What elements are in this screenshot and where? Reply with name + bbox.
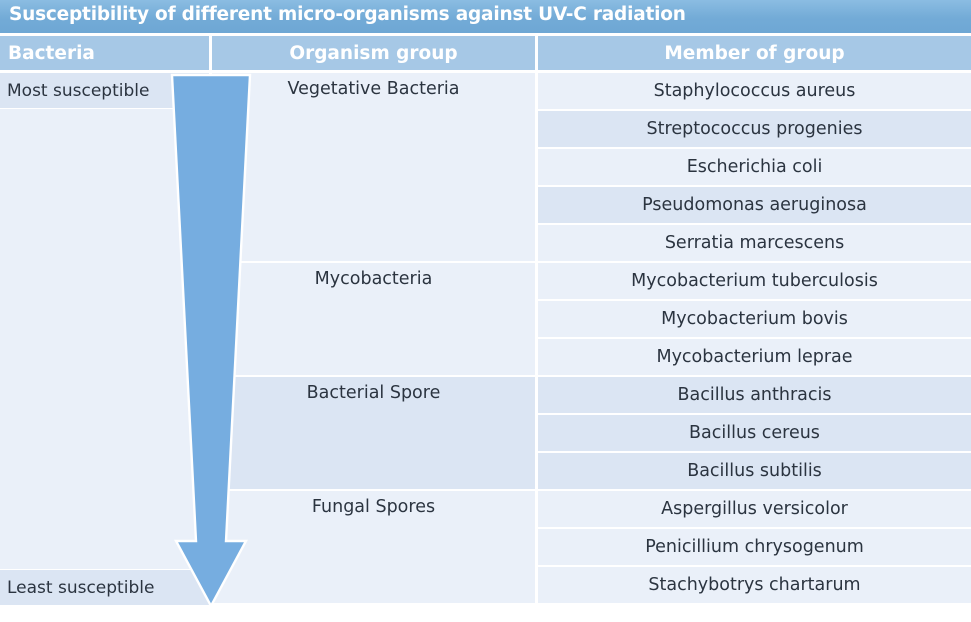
table-header-row: Bacteria Organism group Member of group [0,36,971,70]
table-row: Mycobacterium tuberculosis [538,263,971,299]
organism-group-cell: Vegetative Bacteria [212,73,535,261]
table-row: Penicillium chrysogenum [538,529,971,565]
table-row: Bacillus cereus [538,415,971,451]
figure-title-bar: Susceptibility of different micro-organi… [0,0,971,33]
table-row: Streptococcus progenies [538,111,971,147]
table-figure: Susceptibility of different micro-organi… [0,0,971,622]
column-header-bacteria: Bacteria [0,36,209,70]
table-row: Bacillus subtilis [538,453,971,489]
table-row: Mycobacterium leprae [538,339,971,375]
bacteria-column-fill [0,109,209,569]
most-susceptible-label: Most susceptible [0,73,209,108]
table-row: Aspergillus versicolor [538,491,971,527]
table-row: Staphylococcus aureus [538,73,971,109]
organism-group-cell: Mycobacteria [212,263,535,375]
table-row: Bacillus anthracis [538,377,971,413]
column-header-organism-group: Organism group [212,36,535,70]
organism-group-cell: Bacterial Spore [212,377,535,489]
table-body: Most susceptible Least susceptible Veget… [0,73,971,606]
page-title: Susceptibility of different micro-organi… [9,4,686,25]
table-row: Mycobacterium bovis [538,301,971,337]
table-row: Pseudomonas aeruginosa [538,187,971,223]
column-organism-group: Vegetative BacteriaMycobacteriaBacterial… [212,73,535,606]
column-header-member-of-group: Member of group [538,36,971,70]
table-row: Stachybotrys chartarum [538,567,971,603]
table-row: Escherichia coli [538,149,971,185]
column-bacteria: Most susceptible Least susceptible [0,73,209,606]
organism-group-cell: Fungal Spores [212,491,535,603]
table-row: Serratia marcescens [538,225,971,261]
column-member-of-group: Staphylococcus aureusStreptococcus proge… [538,73,971,606]
least-susceptible-label: Least susceptible [0,570,209,605]
